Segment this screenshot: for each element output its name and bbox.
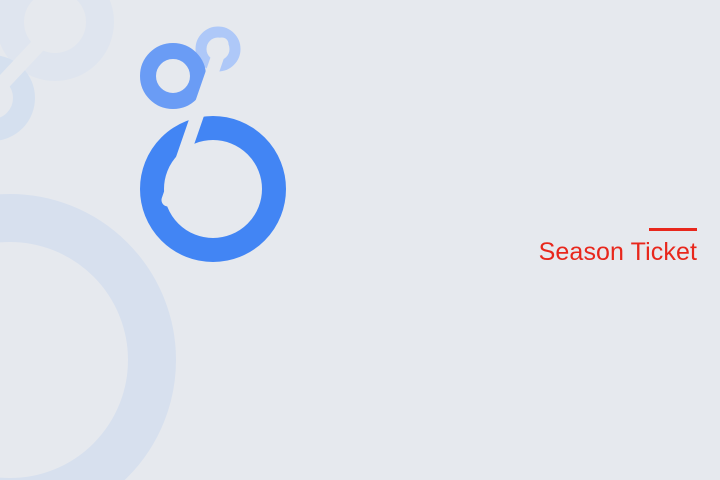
page-title: Season Ticket <box>539 237 697 267</box>
logo-medium-ring <box>148 51 198 101</box>
title-block: Season Ticket <box>539 228 697 267</box>
title-rule <box>649 228 697 231</box>
slide-canvas: Season Ticket <box>0 0 720 480</box>
